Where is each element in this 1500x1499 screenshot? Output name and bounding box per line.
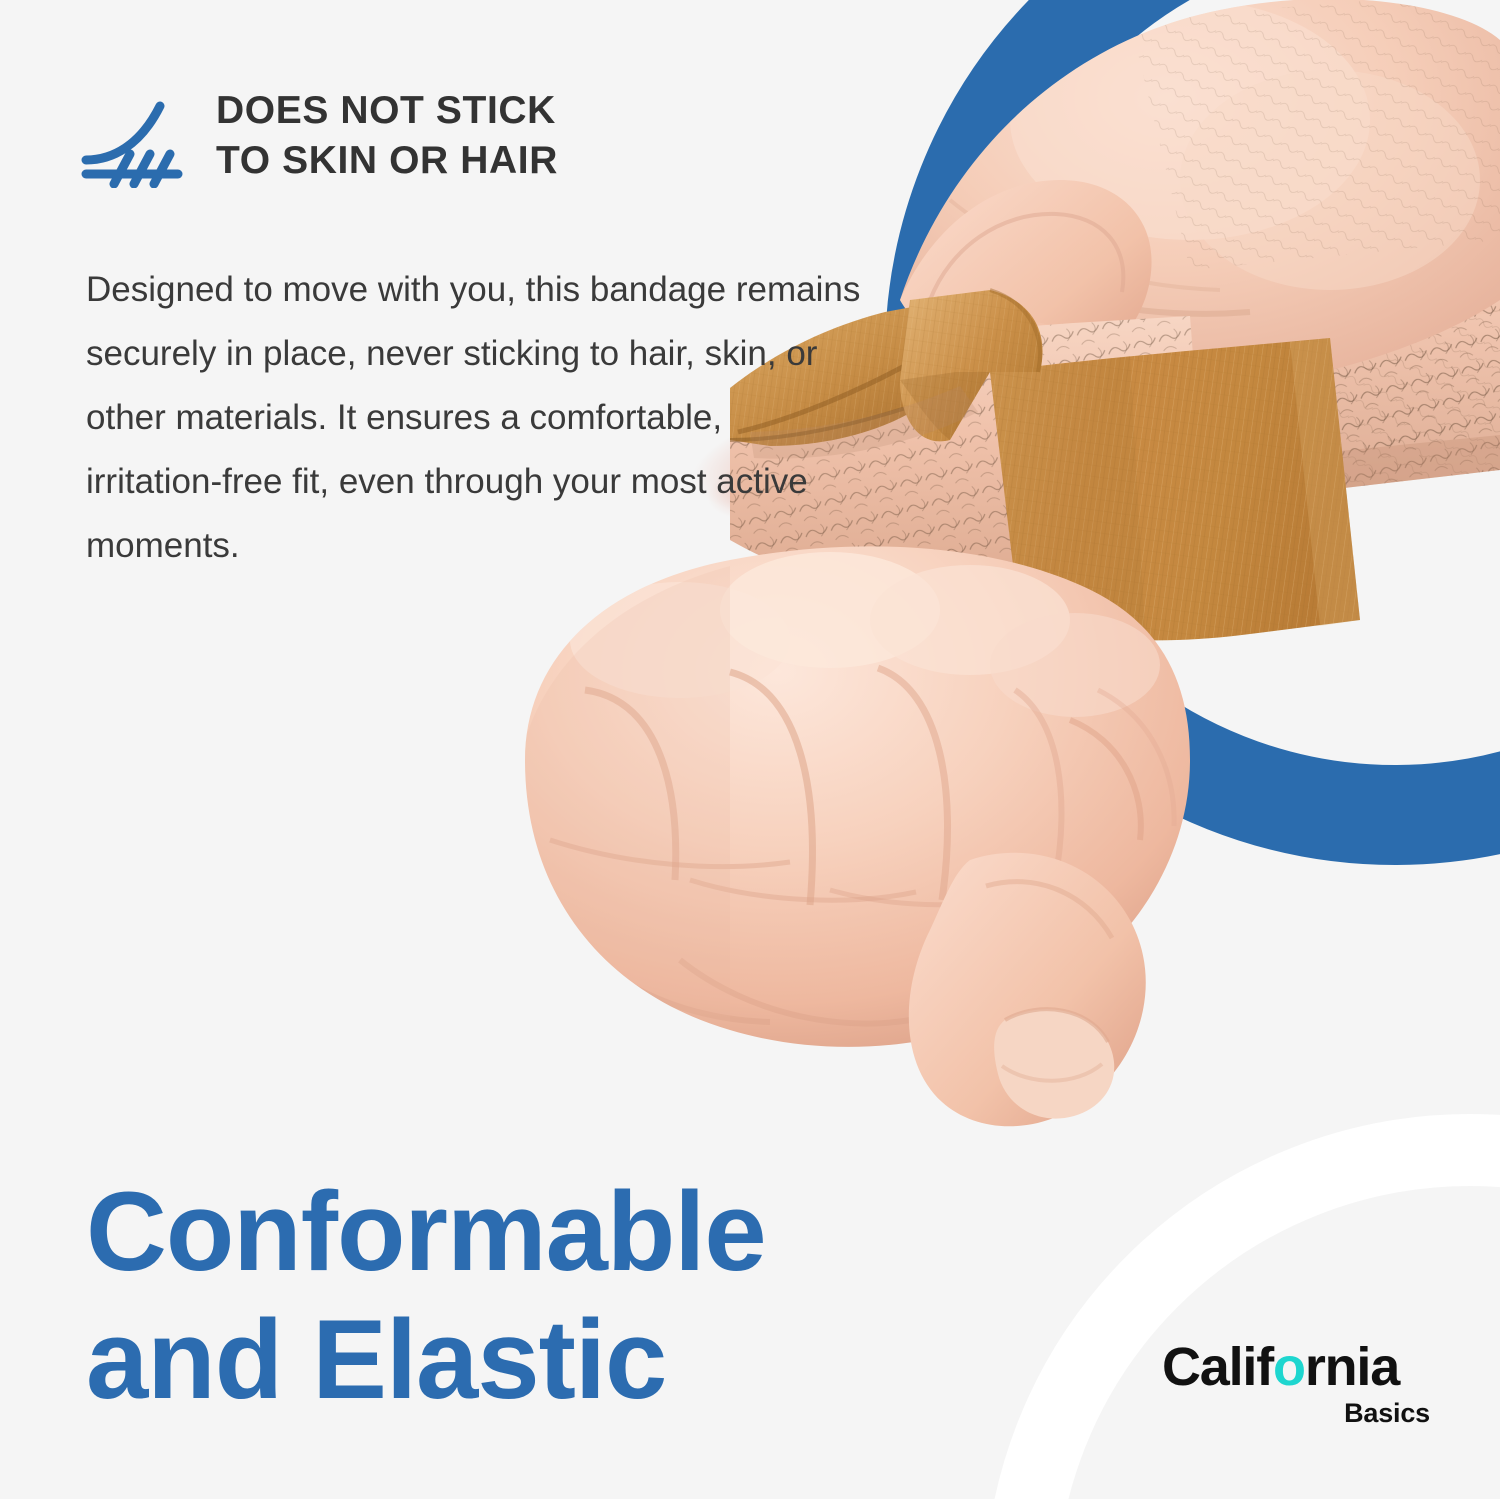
product-feature-image: DOES NOT STICK TO SKIN OR HAIR Designed …	[0, 0, 1500, 1499]
brand-accent-letter-o: o	[1273, 1337, 1305, 1397]
brand-name: California	[1162, 1338, 1432, 1396]
non-stick-bandage-over-hair-icon	[78, 92, 190, 188]
feature-title: DOES NOT STICK TO SKIN OR HAIR	[216, 86, 558, 186]
page-headline: Conformable and Elastic	[86, 1168, 986, 1424]
feature-heading-block: DOES NOT STICK TO SKIN OR HAIR	[78, 86, 738, 188]
brand-tagline: Basics	[1162, 1398, 1432, 1428]
brand-name-part-1: Calif	[1162, 1337, 1273, 1397]
brand-name-part-2: rnia	[1305, 1337, 1399, 1397]
brand-logo: California Basics	[1162, 1338, 1432, 1434]
clenched-fist	[525, 546, 1192, 1126]
feature-description: Designed to move with you, this bandage …	[86, 258, 861, 578]
